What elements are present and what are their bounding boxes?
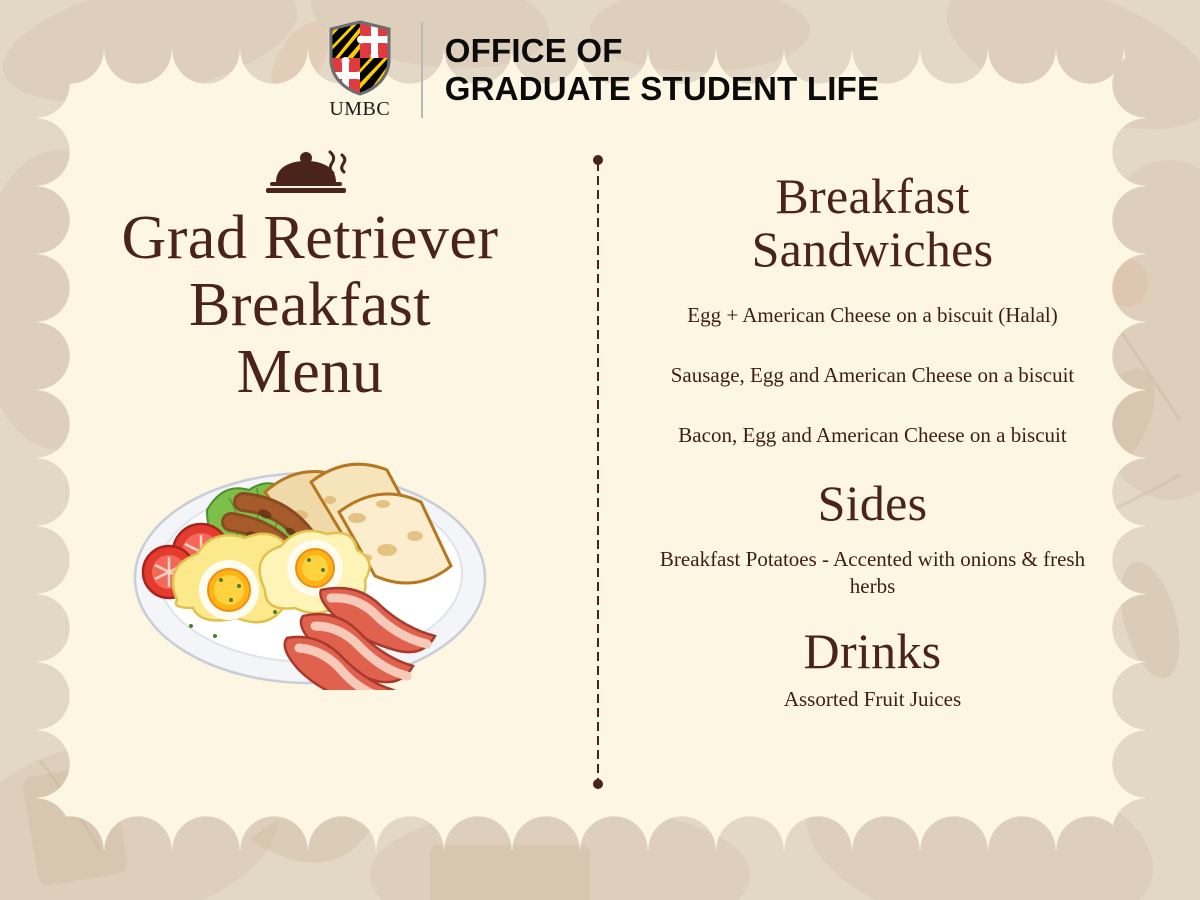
umbc-shield-icon bbox=[327, 19, 393, 97]
right-column: Breakfast Sandwiches Egg + American Chee… bbox=[605, 170, 1140, 715]
section-sides: Sides Breakfast Potatoes - Accented with… bbox=[605, 477, 1140, 600]
menu-item: Assorted Fruit Juices bbox=[613, 686, 1133, 713]
cloche-icon bbox=[258, 148, 362, 196]
menu-item: Breakfast Potatoes - Accented with onion… bbox=[638, 546, 1108, 600]
section-item-list: Breakfast Potatoes - Accented with onion… bbox=[605, 546, 1140, 600]
breakfast-plate-illustration bbox=[125, 440, 495, 690]
page-title-line2: Breakfast bbox=[60, 272, 560, 339]
divider-dot-bottom bbox=[593, 779, 603, 789]
menu-item: Egg + American Cheese on a biscuit (Hala… bbox=[613, 302, 1133, 329]
menu-poster: UMBC OFFICE OF GRADUATE STUDENT LIFE bbox=[0, 0, 1200, 900]
umbc-logo: UMBC bbox=[321, 19, 399, 121]
page-title-line3: Menu bbox=[60, 339, 560, 406]
section-item-list: Egg + American Cheese on a biscuit (Hala… bbox=[605, 302, 1140, 449]
cloche-icon-wrapper bbox=[60, 148, 560, 201]
office-title-line2: GRADUATE STUDENT LIFE bbox=[445, 70, 879, 108]
office-title: OFFICE OF GRADUATE STUDENT LIFE bbox=[445, 32, 879, 107]
divider-dashed-line bbox=[597, 162, 599, 784]
section-heading: Breakfast Sandwiches bbox=[605, 170, 1140, 276]
section-drinks: Drinks Assorted Fruit Juices bbox=[605, 625, 1140, 713]
left-column: Grad Retriever Breakfast Menu bbox=[60, 140, 560, 690]
menu-item: Bacon, Egg and American Cheese on a bisc… bbox=[613, 422, 1133, 449]
umbc-wordmark: UMBC bbox=[329, 98, 390, 121]
menu-item: Sausage, Egg and American Cheese on a bi… bbox=[613, 362, 1133, 389]
header-divider bbox=[421, 22, 423, 118]
section-heading-line1: Breakfast bbox=[605, 170, 1140, 223]
page-title-line1: Grad Retriever bbox=[60, 205, 560, 272]
breakfast-plate-wrapper bbox=[60, 440, 560, 690]
vertical-dashed-divider bbox=[593, 155, 603, 789]
section-heading-line1: Drinks bbox=[605, 625, 1140, 678]
page-title: Grad Retriever Breakfast Menu bbox=[60, 205, 560, 406]
section-item-list: Assorted Fruit Juices bbox=[605, 686, 1140, 713]
office-title-line1: OFFICE OF bbox=[445, 32, 879, 70]
section-heading: Sides bbox=[605, 477, 1140, 530]
section-heading: Drinks bbox=[605, 625, 1140, 678]
section-heading-line2: Sandwiches bbox=[605, 223, 1140, 276]
section-breakfast-sandwiches: Breakfast Sandwiches Egg + American Chee… bbox=[605, 170, 1140, 449]
poster-header: UMBC OFFICE OF GRADUATE STUDENT LIFE bbox=[0, 0, 1200, 140]
section-heading-line1: Sides bbox=[605, 477, 1140, 530]
